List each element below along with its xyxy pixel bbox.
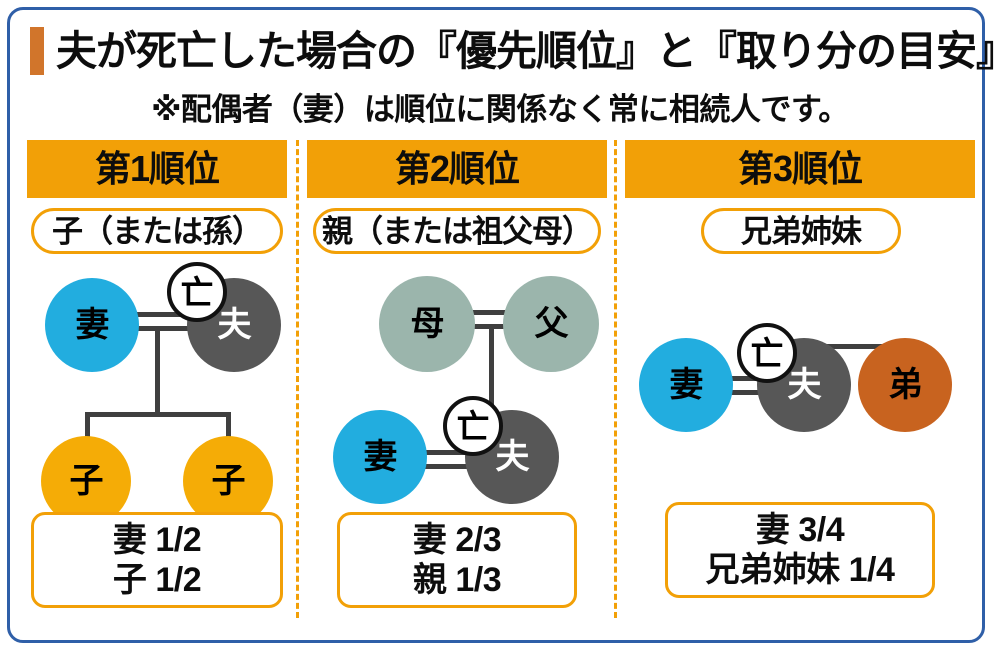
page-title: 夫が死亡した場合の『優先順位』と『取り分の目安』 — [56, 31, 1000, 72]
node-child-label-1a: 子 — [70, 464, 103, 498]
node-sibling-3: 弟 — [858, 338, 952, 432]
result-line-3b: 兄弟姉妹 1/4 — [706, 550, 895, 590]
deceased-badge-3: 亡 — [737, 323, 797, 383]
rank-header-1: 第1順位 — [27, 140, 287, 198]
column-rank-1: 第1順位 子（または孫） 妻 夫 亡 子 — [27, 140, 287, 620]
result-line-2b: 親 1/3 — [413, 560, 501, 600]
result-line-3a: 妻 3/4 — [756, 510, 844, 550]
deceased-badge-1: 亡 — [167, 262, 227, 322]
column-rank-2: 第2順位 親（または祖父母） 母 父 妻 夫 — [307, 140, 607, 620]
node-sibling-label-3: 弟 — [889, 368, 922, 402]
node-wife-label-2: 妻 — [364, 440, 397, 474]
deceased-badge-2: 亡 — [443, 396, 503, 456]
deceased-badge-label-1: 亡 — [181, 276, 214, 309]
heir-pill-1: 子（または孫） — [31, 208, 283, 254]
title-accent-bar — [30, 27, 44, 75]
deceased-badge-label-3: 亡 — [751, 337, 784, 370]
title-row: 夫が死亡した場合の『優先順位』と『取り分の目安』 — [30, 22, 960, 80]
children-bar-1 — [85, 412, 231, 417]
result-box-3: 妻 3/4 兄弟姉妹 1/4 — [665, 502, 935, 598]
family-tree-3: 妻 夫 亡 弟 — [625, 320, 975, 490]
descent-line-1 — [155, 326, 160, 412]
heir-pill-label-1: 子（または孫） — [52, 216, 262, 247]
node-wife-1: 妻 — [45, 278, 139, 372]
node-husband-label-1: 夫 — [218, 308, 251, 342]
infographic-canvas: 夫が死亡した場合の『優先順位』と『取り分の目安』 ※配偶者（妻）は順位に関係なく… — [0, 0, 1000, 656]
node-husband-label-3: 夫 — [788, 368, 821, 402]
result-box-1: 妻 1/2 子 1/2 — [31, 512, 283, 608]
column-divider-2 — [614, 140, 617, 618]
deceased-badge-label-2: 亡 — [457, 410, 490, 443]
rank-header-label-2: 第2順位 — [395, 151, 519, 187]
family-tree-1: 妻 夫 亡 子 子 — [27, 260, 287, 490]
heir-pill-2: 親（または祖父母） — [313, 208, 601, 254]
column-rank-3: 第3順位 兄弟姉妹 妻 夫 亡 弟 — [625, 140, 975, 620]
result-line-1a: 妻 1/2 — [113, 520, 201, 560]
node-child-label-1b: 子 — [212, 464, 245, 498]
result-box-2: 妻 2/3 親 1/3 — [337, 512, 577, 608]
node-father-2: 父 — [503, 276, 599, 372]
heir-pill-label-3: 兄弟姉妹 — [741, 216, 861, 247]
page-subtitle: ※配偶者（妻）は順位に関係なく常に相続人です。 — [0, 84, 1000, 129]
node-wife-3: 妻 — [639, 338, 733, 432]
rank-header-label-3: 第3順位 — [738, 151, 862, 187]
node-father-label-2: 父 — [535, 307, 568, 341]
node-mother-label-2: 母 — [411, 307, 444, 341]
family-tree-2: 母 父 妻 夫 亡 — [307, 260, 607, 500]
rank-header-2: 第2順位 — [307, 140, 607, 198]
node-wife-2: 妻 — [333, 410, 427, 504]
column-divider-1 — [296, 140, 299, 618]
node-mother-2: 母 — [379, 276, 475, 372]
rank-header-3: 第3順位 — [625, 140, 975, 198]
node-wife-label-3: 妻 — [670, 368, 703, 402]
result-line-1b: 子 1/2 — [113, 560, 201, 600]
result-line-2a: 妻 2/3 — [413, 520, 501, 560]
node-wife-label-1: 妻 — [76, 308, 109, 342]
node-husband-label-2: 夫 — [496, 440, 529, 474]
heir-pill-3: 兄弟姉妹 — [701, 208, 901, 254]
rank-header-label-1: 第1順位 — [95, 151, 219, 187]
heir-pill-label-2: 親（または祖父母） — [322, 216, 592, 247]
